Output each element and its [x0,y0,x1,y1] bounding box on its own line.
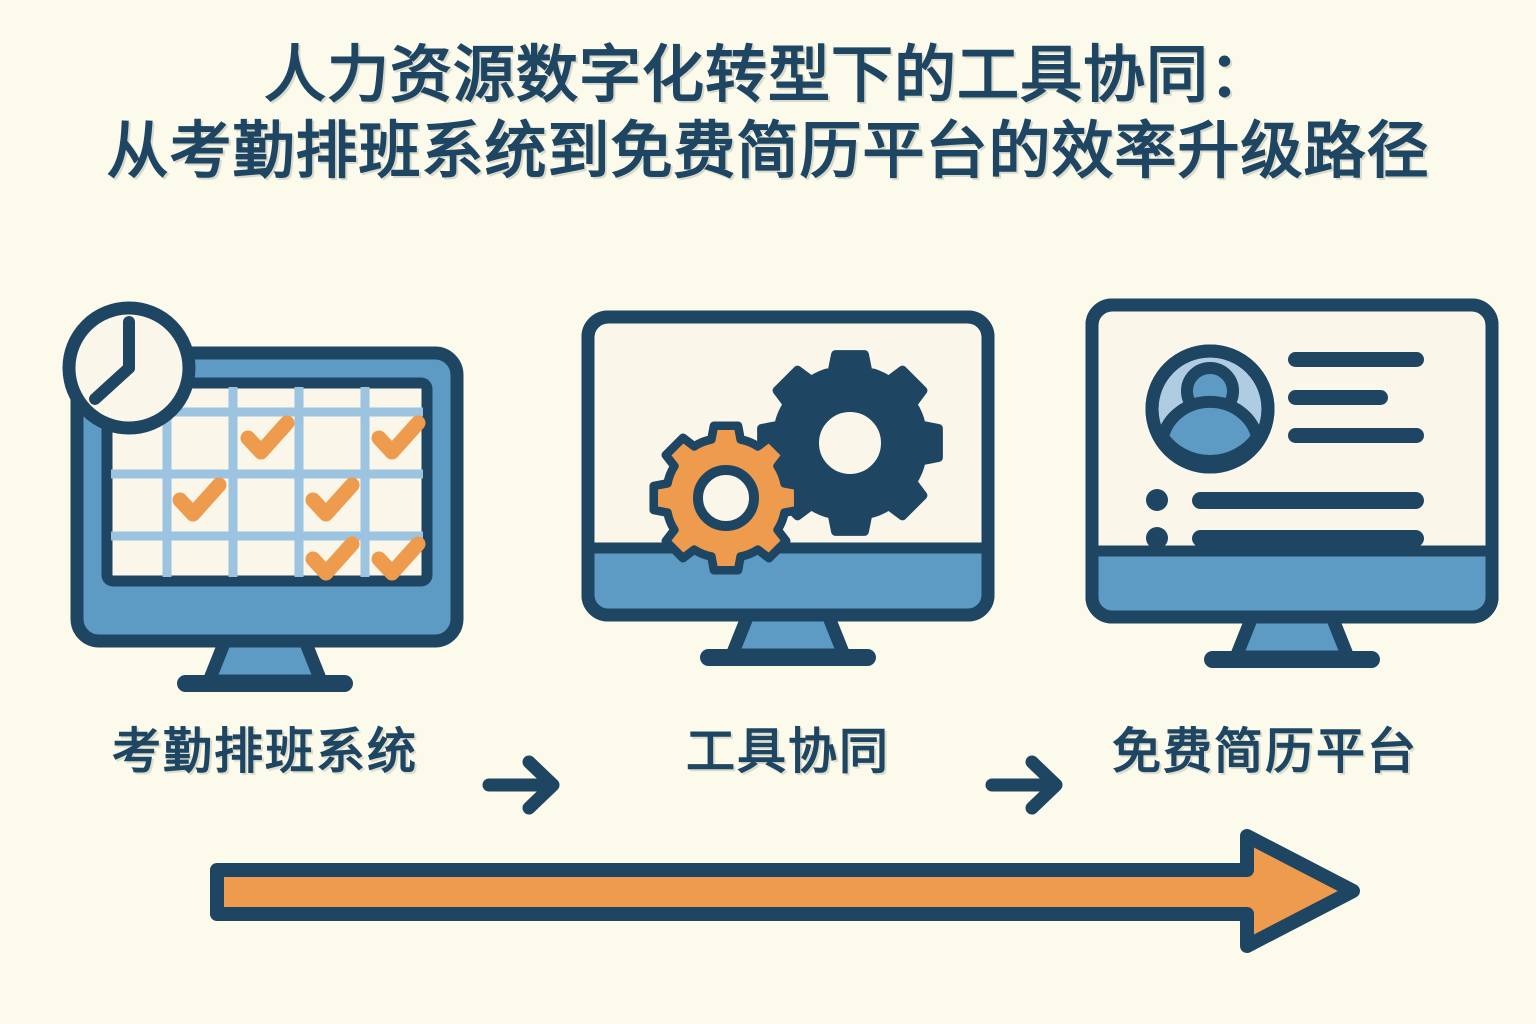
stage-label-attendance-scheduling-system: 考勤排班系统 [55,712,475,783]
efficiency-upgrade-arrow [205,828,1365,958]
stage-label-free-resume-platform: 免费简历平台 [1055,712,1475,783]
long-arrow-right-icon [205,828,1365,958]
stage-label-tool-collaboration: 工具协同 [578,712,998,783]
monitor-base [1204,651,1380,668]
text-line [1288,390,1388,405]
text-line [1192,492,1424,509]
infographic-poster: 人力资源数字化转型下的工具协同： 从考勤排班系统到免费简历平台的效率升级路径 [0,0,1536,1024]
monitor-calendar-clock-icon [55,295,475,695]
text-line [1288,428,1424,443]
title-line-1: 人力资源数字化转型下的工具协同： [0,38,1536,114]
title-line-2: 从考勤排班系统到免费简历平台的效率升级路径 [0,114,1536,190]
text-line [1192,530,1424,547]
monitor-bezel [594,548,982,615]
stage-tool-collaboration[interactable] [578,295,998,695]
monitor-bezel [1098,551,1486,617]
small-gear [654,426,798,570]
monitor-base [700,649,876,666]
bullet-dot [1146,527,1168,549]
poster-title: 人力资源数字化转型下的工具协同： 从考勤排班系统到免费简历平台的效率升级路径 [0,38,1536,189]
bullet-dot [1146,489,1168,511]
flow-diagram [0,295,1536,695]
monitor-gears-icon [578,295,998,695]
stage-labels: 考勤排班系统 工具协同 免费简历平台 [0,712,1536,796]
clock-icon [69,308,189,428]
stage-attendance-scheduling-system[interactable] [55,295,475,695]
monitor-resume-icon [1082,295,1502,695]
monitor-base [177,675,353,692]
user-avatar-icon [1152,351,1268,467]
stage-free-resume-platform[interactable] [1082,295,1502,695]
text-line [1288,352,1424,367]
